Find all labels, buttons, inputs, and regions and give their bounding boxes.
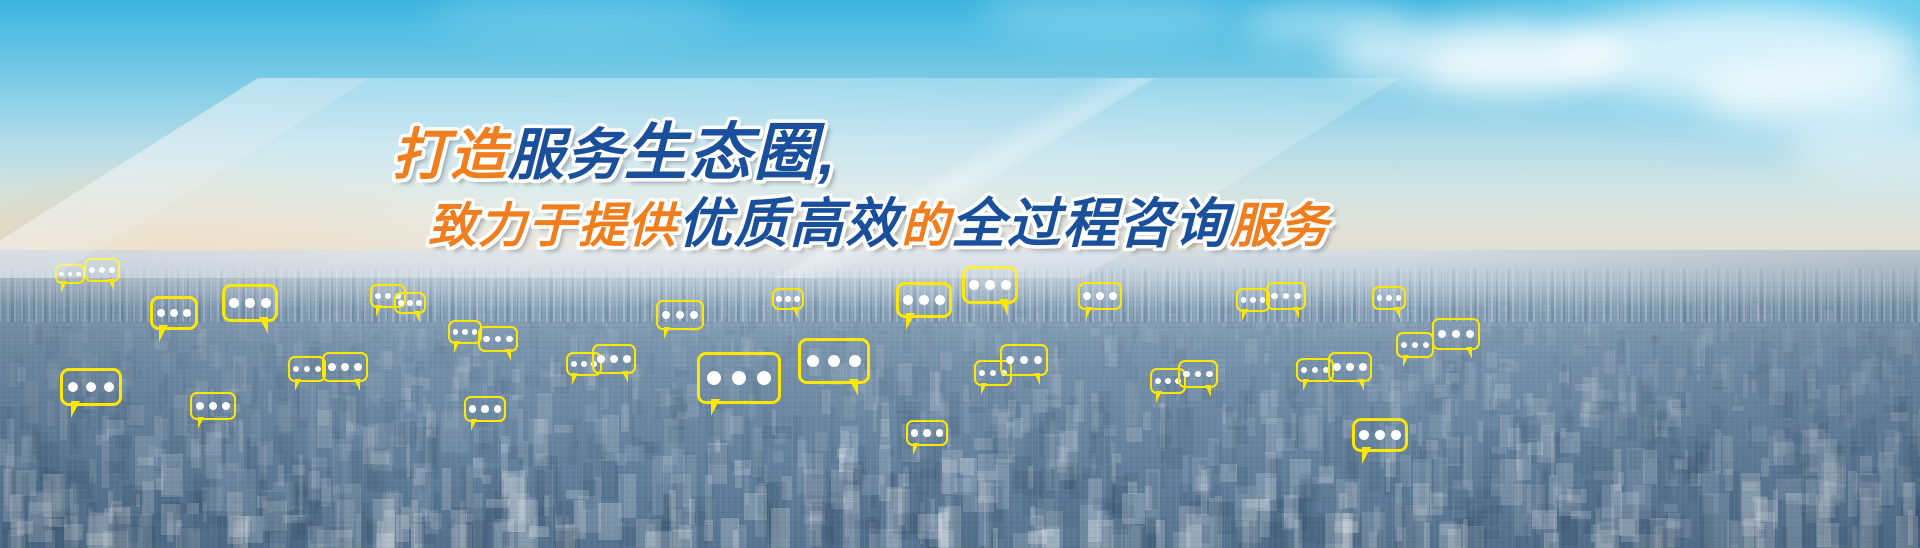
bubble-dot [483,336,490,343]
bubble-tail [376,305,382,317]
bubble-dot [1396,295,1402,301]
speech-bubble-icon [896,282,952,318]
bubble-dot [979,370,985,376]
speech-bubble-body [1372,286,1406,310]
bubble-dot [1109,292,1117,300]
speech-bubble-icon [1396,332,1434,358]
bubble-tail [1362,447,1371,464]
speech-bubble-body [1178,360,1218,388]
bubble-dot [571,361,577,367]
speech-bubble-icon [962,266,1018,304]
bubble-dot [1438,330,1446,338]
bubble-dot [506,336,513,343]
bubble-tail [1303,379,1309,391]
bubble-dot [104,382,115,393]
speech-bubble-icon [84,258,120,282]
speech-bubble-body [222,284,278,322]
speech-bubble-icon [288,356,326,382]
speech-bubble-body [798,338,870,384]
speech-bubble-body [448,320,482,344]
speech-bubble-icon [1372,286,1406,310]
bubble-dot [469,405,476,412]
bubble-dot [1401,342,1407,348]
bubble-dot [581,361,587,367]
bubble-tail [354,379,360,391]
bubble-tail [792,307,798,319]
cityscape-photo [0,250,1920,548]
bubble-dot [1466,330,1474,338]
speech-bubble-body [1432,318,1480,350]
bubble-dot [157,309,165,317]
speech-bubble-icon [448,320,482,344]
bubble-dot [472,329,478,335]
speech-bubble-icon [772,288,804,310]
bubble-dot [1359,430,1369,440]
bubble-dot [732,371,747,386]
speech-bubble-icon [478,326,518,352]
speech-bubble-icon [1178,360,1218,388]
bubble-dot [1206,371,1213,378]
bubble-tail [913,443,919,455]
speech-bubble-body [60,368,122,406]
bubble-tail [1242,309,1248,321]
bubble-dot [1346,363,1354,371]
speech-bubble-body [1078,282,1122,310]
bubble-dot [183,309,191,317]
bubble-tail [572,373,578,385]
bubble-dot [481,405,488,412]
bubble-dot [1333,363,1341,371]
bubble-tail [1466,347,1472,359]
speech-bubble-icon [1328,352,1372,382]
bubble-dot [354,363,362,371]
bubble-dot [597,355,605,363]
bubble-dot [936,429,943,436]
bubble-tail [981,383,987,395]
bubble-dot [328,363,336,371]
speech-bubble-body [1000,344,1048,376]
speech-bubble-icon [394,292,426,314]
bubble-dot [1391,430,1401,440]
bubble-tail [259,317,268,334]
bubble-dot [911,429,918,436]
bubble-tail [108,279,114,291]
speech-bubble-icon [1236,288,1270,312]
cloud-icon [1240,0,1410,46]
bubble-dot [1001,280,1011,290]
bubble-dot [453,329,459,335]
bubble-dot [1386,295,1392,301]
speech-bubble-body [394,292,426,314]
bubble-dot [1083,292,1091,300]
bubble-dot [1096,292,1104,300]
bubble-dot [1375,430,1385,440]
bubble-dot [375,293,381,299]
speech-bubble-body [656,300,704,330]
speech-bubble-body [906,420,948,446]
bubble-dot [341,363,349,371]
bubble-dot [1020,356,1028,364]
speech-bubble-body [1352,418,1408,452]
city-vignette [0,250,1920,548]
bubble-dot [86,382,97,393]
bubble-dot [1271,293,1278,300]
bubble-dot [1301,367,1307,373]
bubble-dot [785,296,790,301]
bubble-dot [385,293,391,299]
bubble-dot [707,371,722,386]
bubble-dot [304,366,310,372]
bubble-dot [610,355,618,363]
speech-bubble-body [592,344,636,374]
bubble-dot [89,267,95,273]
bubble-dot [398,300,403,305]
bubble-dot [1155,378,1161,384]
bubble-dot [828,355,841,368]
speech-bubble-icon [190,392,236,420]
bubble-tail [1403,355,1409,367]
bubble-dot [676,311,684,319]
bubble-dot [623,355,631,363]
speech-bubble-body [322,352,368,382]
speech-bubble-body [1396,332,1434,358]
bubble-dot [990,370,996,376]
speech-bubble-body [55,264,85,284]
bubble-dot [229,298,239,308]
bubble-dot [495,336,502,343]
bubble-dot [919,295,929,305]
bubble-dot [807,355,820,368]
bubble-tail [159,325,168,342]
speech-bubble-icon [322,352,368,382]
bubble-tail [471,419,477,431]
bubble-dot [1423,342,1429,348]
bubble-dot [757,371,772,386]
bubble-tail [61,281,67,293]
speech-bubble-body [772,288,804,310]
bubble-dot [923,429,930,436]
bubble-tail [1156,391,1162,403]
bubble-dot [1283,293,1290,300]
bubble-tail [906,313,915,330]
bubble-tail [849,379,858,396]
bubble-dot [1183,371,1190,378]
bubble-dot [1359,363,1367,371]
speech-bubble-body [962,266,1018,304]
speech-bubble-icon [1000,344,1048,376]
speech-bubble-icon [464,396,506,422]
bubble-dot [462,329,468,335]
speech-bubble-body [697,352,781,404]
bubble-dot [170,309,178,317]
speech-bubble-body [288,356,326,382]
bubble-dot [261,298,271,308]
bubble-tail [71,401,80,418]
bubble-dot [1250,297,1256,303]
speech-bubble-icon [1432,318,1480,350]
bubble-tail [711,399,720,416]
bubble-dot [416,300,421,305]
speech-bubble-icon [60,368,122,406]
speech-bubble-icon [592,344,636,374]
speech-bubble-icon [906,420,948,446]
bubble-tail [454,341,460,353]
bubble-dot [494,405,501,412]
bubble-dot [99,267,105,273]
bubble-tail [999,299,1008,316]
bubble-tail [414,311,420,323]
bubble-dot [1412,342,1418,348]
bubble-dot [985,280,995,290]
bubble-tail [1394,307,1400,319]
speech-bubble-body [896,282,952,318]
speech-bubble-icon [656,300,704,330]
bubble-tail [1086,307,1092,319]
bubble-dot [109,267,115,273]
speech-bubble-body [190,392,236,420]
bubble-dot [935,295,945,305]
bubble-dot [209,402,217,410]
bubble-tail [1293,307,1299,319]
hero-banner: 打造服务生态圈, 致力于提供优质高效的全过程咨询服务 [0,0,1920,548]
speech-bubble-icon [222,284,278,322]
bubble-dot [1294,293,1301,300]
bubble-dot [1165,378,1171,384]
speech-bubble-body [464,396,506,422]
bubble-dot [1260,297,1266,303]
bubble-dot [903,295,913,305]
speech-bubble-body [150,296,198,330]
bubble-dot [68,382,79,393]
bubble-dot [315,366,321,372]
bubble-dot [196,402,204,410]
bubble-tail [1205,385,1211,397]
bubble-dot [1034,356,1042,364]
bubble-dot [1312,367,1318,373]
bubble-tail [622,371,628,383]
bubble-dot [1241,297,1247,303]
bubble-dot [1452,330,1460,338]
bubble-tail [1034,373,1040,385]
bubble-dot [245,298,255,308]
speech-bubble-icon [697,352,781,404]
bubble-dot [1006,356,1014,364]
bubble-tail [295,379,301,391]
bubble-dot [849,355,862,368]
bubble-tail [1358,379,1364,391]
bubble-dot [690,311,698,319]
speech-bubble-icon [55,264,85,284]
speech-bubble-icon [1078,282,1122,310]
bubble-dot [76,272,81,277]
bubble-tail [198,417,204,429]
speech-bubble-icon [150,296,198,330]
speech-bubble-icon [798,338,870,384]
speech-bubble-body [1236,288,1270,312]
bubble-dot [776,296,781,301]
bubble-dot [969,280,979,290]
bubble-dot [662,311,670,319]
bubble-tail [664,327,670,339]
speech-bubble-body [1328,352,1372,382]
bubble-dot [1377,295,1383,301]
bubble-dot [407,300,412,305]
bubble-dot [59,272,64,277]
speech-bubble-body [1266,282,1306,310]
bubble-dot [794,296,799,301]
speech-bubble-body [478,326,518,352]
bubble-dot [1195,371,1202,378]
speech-bubble-icon [1352,418,1408,452]
bubble-tail [505,349,511,361]
bubble-dot [222,402,230,410]
speech-bubble-icon [1266,282,1306,310]
bubble-dot [68,272,73,277]
speech-bubble-body [84,258,120,282]
bubble-dot [293,366,299,372]
